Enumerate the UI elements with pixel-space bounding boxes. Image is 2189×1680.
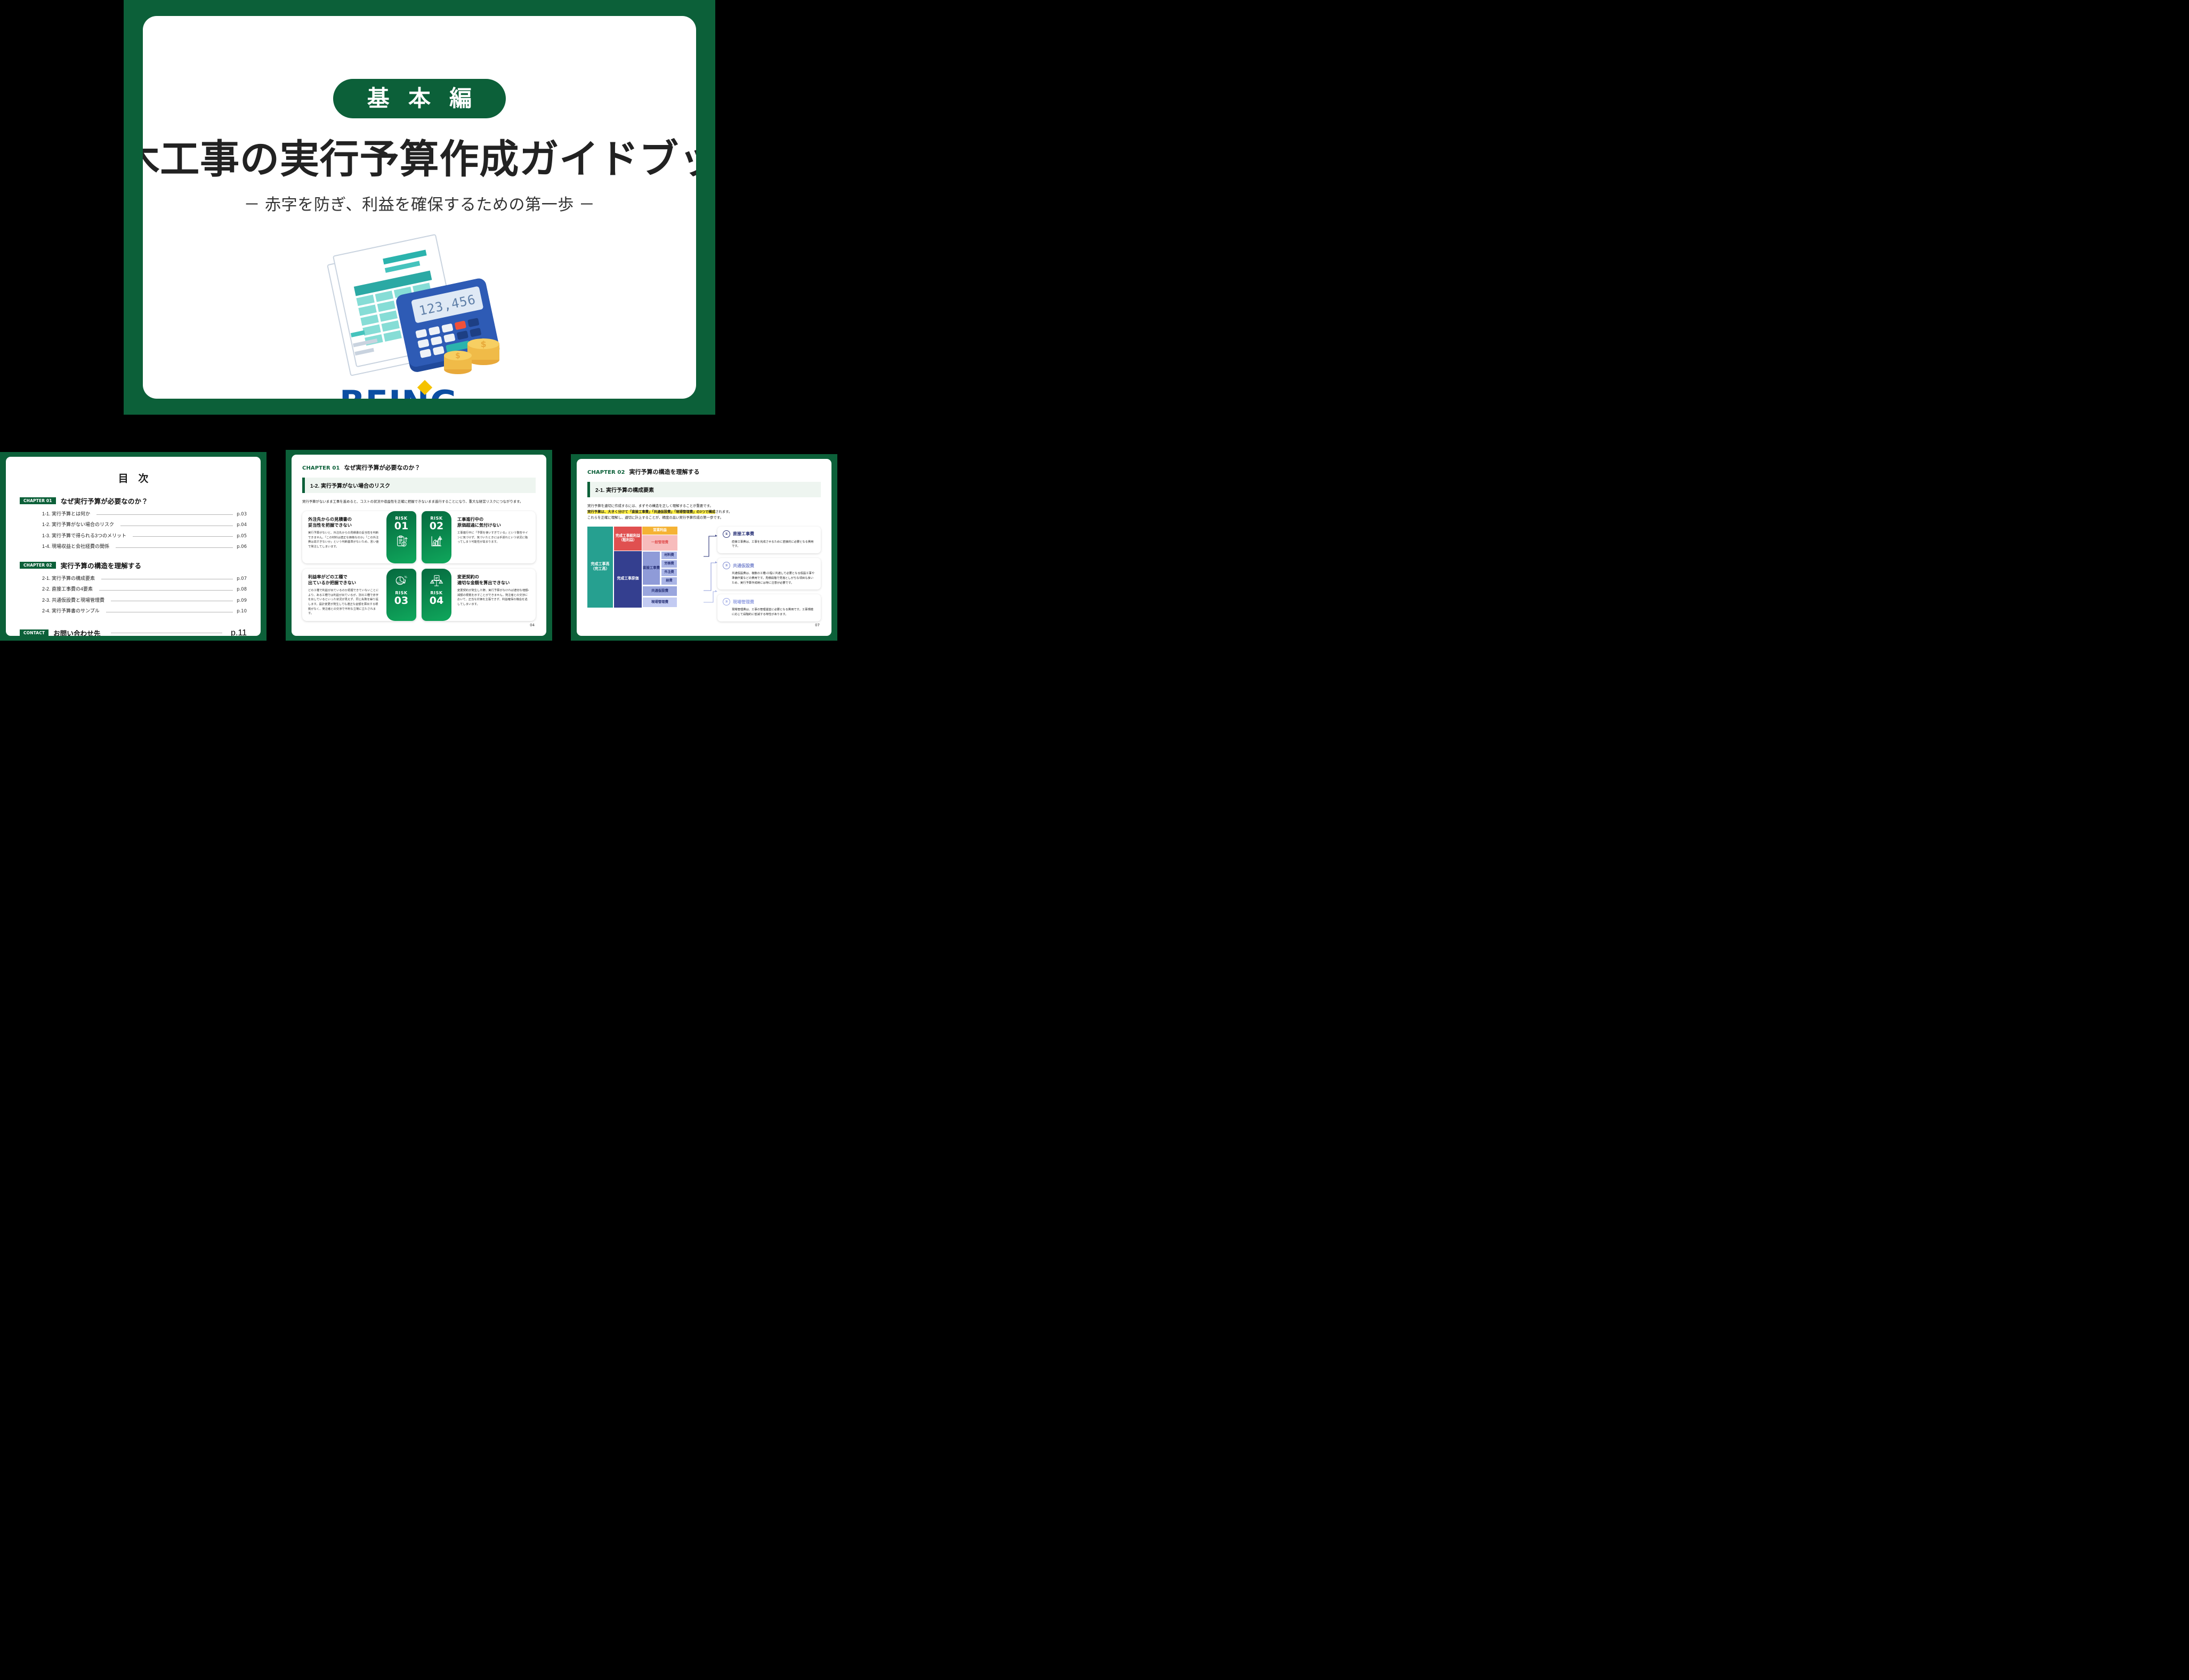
- toc-entry-page: p.06: [237, 544, 247, 550]
- risk-badge-02: RISK 02: [422, 511, 451, 563]
- lead-line-3: これらを正確に理解し、適切に計上することが、精度の高い実行予算作成の第一歩です。: [587, 515, 821, 521]
- note-title: 直接工事費: [733, 531, 754, 537]
- toc-entry-page: p.05: [237, 534, 247, 539]
- toc-entry[interactable]: 2-1. 実行予算の構成要素 p.07: [42, 575, 247, 581]
- note-number: ①: [723, 530, 730, 538]
- lead-line-2: 実行予算は、大きく分けて「直接工事費」「共通仮設費」「現場管理費」の3つで構成さ…: [587, 509, 821, 515]
- svg-text:$: $: [440, 581, 442, 584]
- hero-slide-canvas: 基 本 編 土木工事の実行予算作成ガイドブック － 赤字を防ぎ、利益を確保するた…: [143, 16, 696, 399]
- leader-line: [96, 514, 233, 515]
- toc-slide-canvas: 目 次 CHAPTER 01 なぜ実行予算が必要なのか？ 1-1. 実行予算とは…: [6, 457, 261, 636]
- toc-heading: 目 次: [20, 471, 247, 485]
- note-heading: ③ 現場管理費: [723, 598, 815, 605]
- leader-line: [106, 611, 233, 612]
- leader-line: [120, 525, 233, 526]
- chapter-title: 実行予算の構造を理解する: [61, 560, 142, 570]
- risk-badge-01: RISK 01 $: [386, 511, 416, 563]
- page-title: 土木工事の実行予算作成ガイドブック: [143, 138, 696, 181]
- diagram-cell-kansei-koujidaka: 完成工事高（完工高）: [587, 527, 613, 608]
- note-body: 直接工事費は、工事を完成させるために直接的に必要となる費用です。: [723, 540, 815, 549]
- toc-entry-label: 2-4. 実行予算書のサンプル: [42, 607, 100, 614]
- diagram-cell-eigyourieki: 営業利益: [642, 527, 677, 535]
- risk-card-body: 実行予算がないと、外注先からの見積書の妥当性を判断できません。「この材料は適正な…: [308, 531, 381, 549]
- toc-contact-entry[interactable]: CONTACT お問い合わせ先 p.11: [20, 628, 247, 636]
- risk-card-body: 変更契約が発生した際、実行予算がなければ適切な増額・減額の根拠を示すことができま…: [457, 588, 530, 607]
- page-subtitle: － 赤字を防ぎ、利益を確保するための第一歩 －: [244, 191, 595, 215]
- hero-slide: 基 本 編 土木工事の実行予算作成ガイドブック － 赤字を防ぎ、利益を確保するた…: [124, 0, 715, 415]
- risk-card-grid: 外注先からの見積書の 妥当性を把握できない 実行予算がないと、外注先からの見積書…: [302, 511, 536, 621]
- toc-entry-page: p.10: [237, 609, 247, 614]
- risk-card-02: 工事進行中の 原価超過に気付けない 工事進行中に「予算を使いすぎている」という警…: [422, 511, 536, 563]
- risk-slide-canvas: CHAPTER 01 なぜ実行予算が必要なのか？ 1-2. 実行予算がない場合の…: [292, 455, 546, 636]
- pie-chart-percent-icon: %: [394, 575, 408, 588]
- section-title: 2-1. 実行予算の構成要素: [587, 482, 821, 497]
- risk-card-01: 外注先からの見積書の 妥当性を把握できない 実行予算がないと、外注先からの見積書…: [302, 511, 416, 563]
- diagram-cell-sourieki: 完成工事総利益（粗利益）: [614, 527, 642, 551]
- note-title: 共通仮設費: [733, 563, 754, 569]
- toc-entry[interactable]: 1-4. 現場収益と会社経費の関係 p.06: [42, 543, 247, 550]
- risk-card-heading-line1: 変更契約の: [457, 575, 479, 579]
- risk-number: 02: [430, 521, 443, 531]
- toc-list-chapter-02: 2-1. 実行予算の構成要素 p.07 2-2. 直接工事費の4要素 p.08 …: [20, 575, 247, 615]
- risk-card-03: 利益率がどの工種で 出ているか把握できない どの工種で利益が出ているのか把握でき…: [302, 569, 416, 621]
- note-card-direct-cost: ① 直接工事費 直接工事費は、工事を完成させるために直接的に必要となる費用です。: [717, 527, 821, 553]
- risk-card-heading-line2: 適切な金額を算出できない: [457, 580, 510, 585]
- toc-entry-page: p.08: [237, 587, 247, 592]
- leader-line: [116, 547, 233, 548]
- risk-card-heading-line1: 工事進行中の: [457, 517, 483, 522]
- lead-line-1: 実行予算を適切に作成するには、まずその構造を正しく理解することが重要です。: [587, 503, 821, 509]
- contact-tag: CONTACT: [20, 629, 49, 636]
- toc-entry-label: 2-1. 実行予算の構成要素: [42, 575, 95, 581]
- diagram-cell-roumuhi: 労務費: [661, 560, 677, 568]
- risk-card-body: 工事進行中に「予算を使いすぎている」という警告サインに気づけず、気づいたときには…: [457, 531, 530, 545]
- diagram-cell-ippan-kanrihi: 一般管理費: [642, 535, 677, 551]
- chapter-title: 実行予算の構造を理解する: [629, 467, 700, 476]
- diagram-cell-kyoutsuu-kasetsuhi: 共通仮設費: [642, 586, 677, 596]
- risk-number: 04: [430, 596, 443, 606]
- note-title: 現場管理費: [733, 599, 754, 605]
- chapter-tag: CHAPTER 01: [20, 497, 56, 505]
- note-body: 現場管理費は、工事の管理運営に必要となる費用です。工事規模に応じて段階的に低減す…: [723, 608, 815, 617]
- diagram-cell-gaichuuhi: 外注費: [661, 568, 677, 577]
- risk-card-heading-line1: 外注先からの見積書の: [308, 517, 352, 522]
- lead-highlight: 実行予算は、大きく分けて「直接工事費」「共通仮設費」「現場管理費」の3つで構成: [587, 510, 715, 514]
- leader-line: [111, 633, 222, 633]
- toc-entry-label: 1-2. 実行予算がない場合のリスク: [42, 521, 114, 528]
- lead-highlight-tail: されます。: [715, 510, 732, 514]
- chapter-title: なぜ実行予算が必要なのか？: [61, 496, 148, 506]
- toc-entry-label: 1-4. 現場収益と会社経費の関係: [42, 543, 109, 550]
- budget-structure-diagram: 完成工事高（完工高） 完成工事総利益（粗利益） 完成工事原価 営業利益 一般管理…: [587, 527, 704, 608]
- toc-entry-label: 2-2. 直接工事費の4要素: [42, 585, 93, 592]
- page-number: 04: [530, 623, 535, 627]
- diagram-cell-chokusetsu-koujihi: 直接工事費: [642, 551, 660, 585]
- toc-entry-label: 1-1. 実行予算とは何か: [42, 510, 90, 517]
- leader-line: [111, 600, 233, 601]
- note-number: ③: [723, 598, 730, 605]
- toc-entry-page: p.03: [237, 512, 247, 517]
- risk-card-heading-line1: 利益率がどの工種で: [308, 575, 348, 579]
- note-heading: ② 共通仮設費: [723, 562, 815, 569]
- risk-badge-03: % RISK 03: [386, 569, 416, 621]
- being-logo-text: BEING: [340, 386, 458, 399]
- toc-entry-label: 2-3. 共通仮設費と現場管理費: [42, 596, 104, 603]
- toc-entry[interactable]: 2-4. 実行予算書のサンプル p.10: [42, 607, 247, 614]
- toc-slide: 目 次 CHAPTER 01 なぜ実行予算が必要なのか？ 1-1. 実行予算とは…: [0, 452, 266, 641]
- slide-header: CHAPTER 01 なぜ実行予算が必要なのか？: [302, 463, 536, 472]
- svg-text:$: $: [480, 339, 486, 349]
- toc-entry[interactable]: 1-1. 実行予算とは何か p.03: [42, 510, 247, 517]
- chapter-title: なぜ実行予算が必要なのか？: [344, 463, 421, 472]
- toc-entry[interactable]: 1-3. 実行予算で得られる3つのメリット p.05: [42, 532, 247, 539]
- structure-slide: CHAPTER 02 実行予算の構造を理解する 2-1. 実行予算の構成要素 実…: [571, 454, 837, 641]
- svg-text:$: $: [432, 581, 433, 584]
- note-body: 共通仮設費は、複数の工種・工程に共通して必要となる仮設工事や準備作業などの費用で…: [723, 571, 815, 585]
- toc-entry-label: 1-3. 実行予算で得られる3つのメリット: [42, 532, 126, 539]
- chapter-tag: CHAPTER 02: [587, 470, 625, 475]
- clipboard-dollar-icon: $: [394, 535, 408, 548]
- toc-entry-page: p.07: [237, 576, 247, 581]
- contact-page: p.11: [231, 628, 247, 636]
- note-card-site-management-cost: ③ 現場管理費 現場管理費は、工事の管理運営に必要となる費用です。工事規模に応じ…: [717, 594, 821, 621]
- leader-line: [101, 578, 233, 579]
- structure-content: 完成工事高（完工高） 完成工事総利益（粗利益） 完成工事原価 営業利益 一般管理…: [587, 527, 821, 621]
- risk-card-body: どの工種で利益が出ているのか把握できていないことにより、ある工種では利益が出てい…: [308, 588, 381, 616]
- toc-entry-page: p.04: [237, 522, 247, 528]
- calculator-documents-coins-illustration: 123,456: [313, 229, 526, 383]
- note-number: ②: [723, 562, 730, 569]
- diagram-cell-zairyouhi: 材料費: [661, 551, 677, 560]
- risk-card-heading-line2: 出ているか把握できない: [308, 580, 356, 585]
- note-heading: ① 直接工事費: [723, 530, 815, 538]
- diagram-cell-kansei-genka: 完成工事原価: [614, 551, 642, 608]
- risk-number: 01: [394, 521, 408, 531]
- risk-card-heading-line2: 原価超過に気付けない: [457, 523, 501, 528]
- chapter-tag: CHAPTER 02: [20, 562, 56, 569]
- toc-entry[interactable]: 1-2. 実行予算がない場合のリスク p.04: [42, 521, 247, 528]
- section-lead: 実行予算がないまま工事を進めると、コストの状況や収益性を正確に把握できないまま進…: [302, 499, 536, 505]
- risk-card-heading: 工事進行中の 原価超過に気付けない: [457, 516, 530, 528]
- risk-slide: CHAPTER 01 なぜ実行予算が必要なのか？ 1-2. 実行予算がない場合の…: [286, 450, 552, 641]
- diagram-connector-arrows: [704, 527, 717, 608]
- risk-card-heading: 外注先からの見積書の 妥当性を把握できない: [308, 516, 381, 528]
- toc-chapter-02: CHAPTER 02 実行予算の構造を理解する: [20, 560, 247, 570]
- note-card-common-temporary-cost: ② 共通仮設費 共通仮設費は、複数の工種・工程に共通して必要となる仮設工事や準備…: [717, 558, 821, 589]
- diagram-cell-genba-kanrihi: 現場管理費: [642, 597, 677, 608]
- svg-text:%: %: [405, 576, 407, 579]
- chapter-tag: CHAPTER 01: [302, 465, 340, 471]
- toc-list-chapter-01: 1-1. 実行予算とは何か p.03 1-2. 実行予算がない場合のリスク p.…: [20, 510, 247, 550]
- section-title: 1-2. 実行予算がない場合のリスク: [302, 478, 536, 493]
- toc-chapter-01: CHAPTER 01 なぜ実行予算が必要なのか？: [20, 496, 247, 506]
- risk-card-heading: 変更契約の 適切な金額を算出できない: [457, 574, 530, 586]
- risk-badge-04: $ $ RISK 04: [422, 569, 451, 621]
- page-number: 07: [815, 623, 820, 627]
- risk-card-04: 変更契約の 適切な金額を算出できない 変更契約が発生した際、実行予算がなければ適…: [422, 569, 536, 621]
- being-logo: BEING: [340, 386, 499, 399]
- leader-line: [133, 536, 233, 537]
- risk-card-heading-line2: 妥当性を把握できない: [308, 523, 352, 528]
- risk-number: 03: [394, 596, 408, 606]
- bar-chart-warning-icon: [430, 535, 443, 548]
- structure-slide-canvas: CHAPTER 02 実行予算の構造を理解する 2-1. 実行予算の構成要素 実…: [577, 459, 831, 636]
- toc-entry[interactable]: 2-2. 直接工事費の4要素 p.08: [42, 585, 247, 592]
- edition-badge: 基 本 編: [333, 79, 506, 118]
- diagram-cell-keihi: 経費: [661, 577, 677, 585]
- section-lead: 実行予算を適切に作成するには、まずその構造を正しく理解することが重要です。 実行…: [587, 503, 821, 521]
- slide-header: CHAPTER 02 実行予算の構造を理解する: [587, 467, 821, 476]
- toc-entry[interactable]: 2-3. 共通仮設費と現場管理費 p.09: [42, 596, 247, 603]
- toc-entry-page: p.09: [237, 598, 247, 603]
- balance-scale-document-icon: $ $: [430, 575, 443, 588]
- risk-card-heading: 利益率がどの工種で 出ているか把握できない: [308, 574, 381, 586]
- contact-title: お問い合わせ先: [53, 628, 100, 636]
- svg-text:$: $: [455, 352, 461, 360]
- cost-category-notes: ① 直接工事費 直接工事費は、工事を完成させるために直接的に必要となる費用です。…: [717, 527, 821, 621]
- leader-line: [99, 589, 233, 591]
